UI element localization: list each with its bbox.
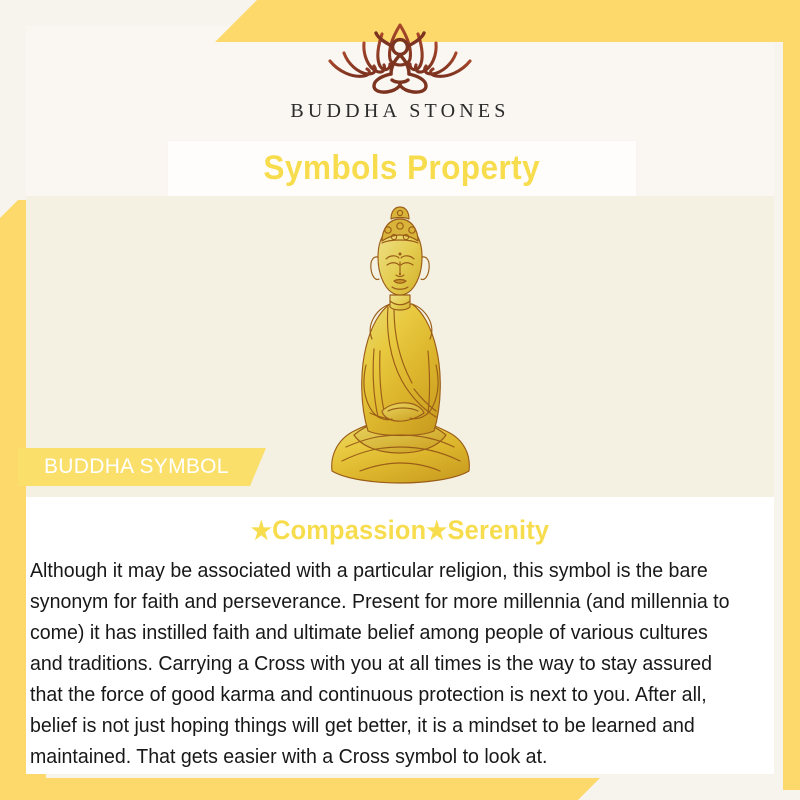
star-icon-right: ★ <box>426 517 447 545</box>
brand-header: BUDDHA STONES <box>0 0 800 140</box>
star-icon-left: ★ <box>251 517 272 545</box>
keyword-compassion: Compassion <box>272 515 426 545</box>
lotus-meditation-icon <box>316 16 484 98</box>
keyword-serenity: Serenity <box>448 515 550 545</box>
body-paragraph: Although it may be associated with a par… <box>30 556 744 773</box>
seated-buddha-statue <box>316 199 484 489</box>
page-title: Symbols Property <box>264 149 541 188</box>
keywords-subtitle: ★Compassion★Serenity <box>24 515 776 546</box>
infographic-poster: BUDDHA STONES Symbols Property <box>0 0 800 800</box>
section-tag-buddha-symbol: BUDDHA SYMBOL <box>18 448 266 486</box>
section-tag-label: BUDDHA SYMBOL <box>44 455 229 479</box>
decor-bottom-band <box>0 778 600 800</box>
title-banner: Symbols Property <box>168 141 636 196</box>
brand-wordmark: BUDDHA STONES <box>290 100 509 123</box>
